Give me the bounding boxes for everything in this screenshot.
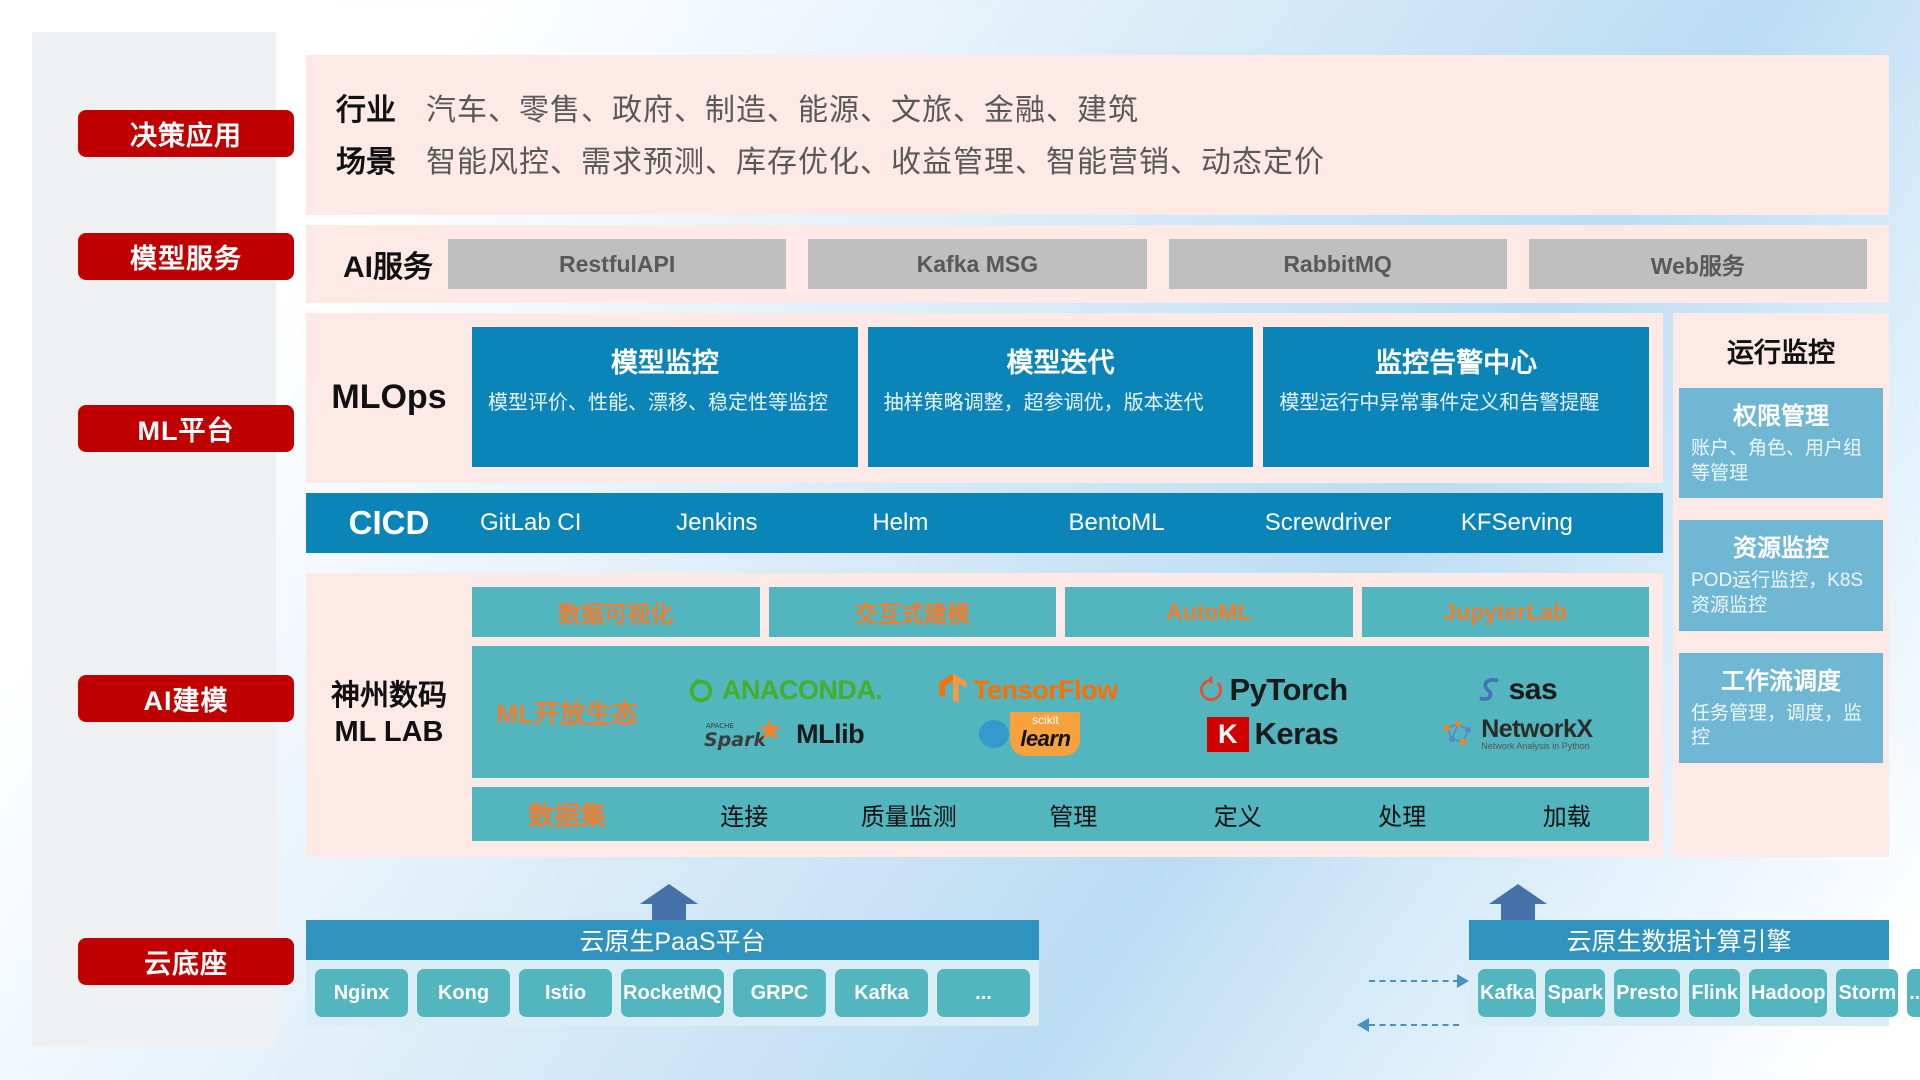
scenario-values: 智能风控、需求预测、库存优化、收益管理、智能营销、动态定价 bbox=[426, 137, 1325, 181]
paas-platform-title: 云原生PaaS平台 bbox=[306, 920, 1039, 960]
runtime-monitoring-title: 运行监控 bbox=[1727, 331, 1835, 370]
cicd-item-screwdriver[interactable]: Screwdriver bbox=[1257, 509, 1453, 537]
networkx-logo: NetworkX Network Analysis in Python bbox=[1441, 717, 1592, 751]
engine-chip-list: Kafka Spark Presto Flink Hadoop Storm ..… bbox=[1469, 960, 1889, 1026]
ml-lab-title-cn: 神州数码 bbox=[306, 678, 472, 714]
engine-chip-spark[interactable]: Spark bbox=[1545, 969, 1605, 1017]
ai-service-item-kafka-msg[interactable]: Kafka MSG bbox=[808, 239, 1146, 289]
cloud-base-section: 云原生PaaS平台 Nginx Kong Istio RocketMQ GRPC… bbox=[306, 884, 1889, 1044]
industry-values: 汽车、零售、政府、制造、能源、文旅、金融、建筑 bbox=[426, 85, 1139, 129]
ml-lab-tool-jupyterlab[interactable]: JupyterLab bbox=[1362, 587, 1650, 637]
cicd-item-bentoml[interactable]: BentoML bbox=[1061, 509, 1257, 537]
engine-chip-kafka[interactable]: Kafka bbox=[1478, 969, 1536, 1017]
keras-logo: K Keras bbox=[1207, 716, 1338, 752]
cicd-item-kfserving[interactable]: KFServing bbox=[1453, 509, 1649, 537]
dashed-link-right bbox=[1369, 980, 1459, 984]
dataset-item-manage[interactable]: 管理 bbox=[991, 797, 1156, 832]
runtime-monitoring-column: 运行监控 权限管理 账户、角色、用户组等管理 资源监控 POD运行监控，K8S资… bbox=[1673, 313, 1889, 857]
ml-lab-title: 神州数码 ML LAB bbox=[306, 678, 472, 751]
anaconda-logo: ANACONDA. bbox=[686, 675, 883, 706]
anaconda-mark-icon bbox=[686, 675, 716, 705]
ml-lab-tool-automl[interactable]: AutoML bbox=[1065, 587, 1353, 637]
data-engine-title: 云原生数据计算引擎 bbox=[1469, 920, 1889, 960]
mlops-band: MLOps 模型监控 模型评价、性能、漂移、稳定性等监控 模型迭代 抽样策略调整… bbox=[306, 313, 1663, 483]
cicd-label: CICD bbox=[306, 504, 472, 542]
engine-chip-storm[interactable]: Storm bbox=[1836, 969, 1898, 1017]
architecture-main: 行业 汽车、零售、政府、制造、能源、文旅、金融、建筑 场景 智能风控、需求预测、… bbox=[306, 55, 1889, 857]
monitor-card-title: 资源监控 bbox=[1691, 528, 1871, 563]
paas-chip-grpc[interactable]: GRPC bbox=[733, 969, 826, 1017]
scikit-label: scikit bbox=[1020, 714, 1070, 726]
mlops-card-title: 模型迭代 bbox=[884, 341, 1238, 380]
sas-mark-icon bbox=[1477, 676, 1503, 704]
mlops-and-monitoring: MLOps 模型监控 模型评价、性能、漂移、稳定性等监控 模型迭代 抽样策略调整… bbox=[306, 313, 1889, 857]
ml-lab-title-en: ML LAB bbox=[306, 714, 472, 750]
dataset-item-connect[interactable]: 连接 bbox=[662, 797, 827, 832]
dashed-link-left bbox=[1369, 1024, 1459, 1028]
pytorch-flame-icon bbox=[1198, 675, 1224, 705]
ai-modeling-band: 神州数码 ML LAB 数据可视化 交互式建模 AutoML JupyterLa… bbox=[306, 573, 1663, 857]
scenario-row: 场景 智能风控、需求预测、库存优化、收益管理、智能营销、动态定价 bbox=[306, 137, 1889, 181]
scenario-label: 场景 bbox=[306, 137, 426, 181]
layer-chip-ai-modeling[interactable]: AI建模 bbox=[78, 675, 294, 722]
industry-label: 行业 bbox=[306, 85, 426, 129]
paas-chip-istio[interactable]: Istio bbox=[519, 969, 612, 1017]
dataset-item-list: 连接 质量监测 管理 定义 处理 加载 bbox=[662, 797, 1649, 832]
layer-chip-model-svc[interactable]: 模型服务 bbox=[78, 233, 294, 280]
ml-lab-tool-interactive[interactable]: 交互式建模 bbox=[769, 587, 1057, 637]
tensorflow-logo: TensorFlow bbox=[939, 674, 1118, 706]
mlops-card-title: 监控告警中心 bbox=[1279, 341, 1633, 380]
dataset-row: 数据集 连接 质量监测 管理 定义 处理 加载 bbox=[472, 787, 1649, 841]
paas-chip-kafka[interactable]: Kafka bbox=[835, 969, 928, 1017]
ai-service-title: AI服务 bbox=[328, 242, 448, 286]
engine-chip-flink[interactable]: Flink bbox=[1689, 969, 1740, 1017]
paas-chip-rocketmq[interactable]: RocketMQ bbox=[621, 969, 724, 1017]
dashed-arrowhead-left-icon bbox=[1357, 1018, 1369, 1032]
monitor-card-title: 工作流调度 bbox=[1691, 661, 1871, 696]
dataset-item-load[interactable]: 加载 bbox=[1485, 797, 1650, 832]
scikit-learn-badge: scikit learn bbox=[1010, 712, 1080, 756]
scikit-blue-blob-icon bbox=[976, 717, 1012, 751]
pytorch-logo: PyTorch bbox=[1198, 672, 1348, 708]
layer-rail: 决策应用 模型服务 ML平台 AI建模 云底座 bbox=[32, 32, 276, 1047]
tensorflow-mark-icon bbox=[939, 674, 967, 706]
ml-ecosystem-label: ML开放生态 bbox=[472, 694, 662, 731]
ai-service-item-restfulapi[interactable]: RestfulAPI bbox=[448, 239, 786, 289]
paas-chip-more[interactable]: ... bbox=[937, 969, 1030, 1017]
keras-logo-text: Keras bbox=[1255, 716, 1339, 752]
mlops-title: MLOps bbox=[306, 378, 472, 417]
ai-service-band: AI服务 RestfulAPI Kafka MSG RabbitMQ Web服务 bbox=[306, 225, 1889, 303]
mlops-card-desc: 抽样策略调整，超参调优，版本迭代 bbox=[884, 390, 1238, 416]
monitor-card-desc: POD运行监控，K8S资源监控 bbox=[1691, 569, 1871, 618]
data-engine-box: 云原生数据计算引擎 Kafka Spark Presto Flink Hadoo… bbox=[1469, 920, 1889, 1026]
paas-chip-nginx[interactable]: Nginx bbox=[315, 969, 408, 1017]
ai-service-list: RestfulAPI Kafka MSG RabbitMQ Web服务 bbox=[448, 239, 1867, 289]
mlops-card-model-iteration[interactable]: 模型迭代 抽样策略调整，超参调优，版本迭代 bbox=[868, 327, 1254, 467]
dataset-item-quality[interactable]: 质量监测 bbox=[827, 797, 992, 832]
svg-text:Spark: Spark bbox=[704, 729, 767, 751]
mlops-card-model-monitor[interactable]: 模型监控 模型评价、性能、漂移、稳定性等监控 bbox=[472, 327, 858, 467]
cicd-item-list: GitLab CI Jenkins Helm BentoML Screwdriv… bbox=[472, 509, 1649, 537]
cicd-item-helm[interactable]: Helm bbox=[864, 509, 1060, 537]
layer-chip-cloud-base[interactable]: 云底座 bbox=[78, 938, 294, 985]
anaconda-logo-text: ANACONDA. bbox=[722, 675, 883, 706]
engine-chip-more[interactable]: ... bbox=[1907, 969, 1920, 1017]
application-band: 行业 汽车、零售、政府、制造、能源、文旅、金融、建筑 场景 智能风控、需求预测、… bbox=[306, 55, 1889, 215]
monitor-card-workflow[interactable]: 工作流调度 任务管理，调度，监控 bbox=[1679, 653, 1883, 763]
scikit-learn-logo: scikit learn bbox=[976, 712, 1080, 756]
mlops-card-list: 模型监控 模型评价、性能、漂移、稳定性等监控 模型迭代 抽样策略调整，超参调优，… bbox=[472, 327, 1649, 467]
spark-mllib-logo: APACHE Spark MLlib bbox=[704, 717, 864, 751]
mlops-card-desc: 模型运行中异常事件定义和告警提醒 bbox=[1279, 390, 1633, 416]
ai-service-item-web[interactable]: Web服务 bbox=[1529, 239, 1867, 289]
ml-lab-tool-list: 数据可视化 交互式建模 AutoML JupyterLab bbox=[472, 587, 1649, 637]
mlops-card-desc: 模型评价、性能、漂移、稳定性等监控 bbox=[488, 390, 842, 416]
mlops-column: MLOps 模型监控 模型评价、性能、漂移、稳定性等监控 模型迭代 抽样策略调整… bbox=[306, 313, 1663, 857]
ml-ecosystem-row: ML开放生态 ANACONDA. bbox=[472, 646, 1649, 778]
mlops-card-alert-center[interactable]: 监控告警中心 模型运行中异常事件定义和告警提醒 bbox=[1263, 327, 1649, 467]
paas-platform-box: 云原生PaaS平台 Nginx Kong Istio RocketMQ GRPC… bbox=[306, 920, 1039, 1026]
networkx-logo-block: NetworkX Network Analysis in Python bbox=[1481, 717, 1592, 751]
dataset-item-define[interactable]: 定义 bbox=[1156, 797, 1321, 832]
ml-ecosystem-logo-grid: ANACONDA. TensorFlow bbox=[662, 668, 1649, 756]
networkx-graph-icon bbox=[1441, 718, 1475, 750]
dataset-label: 数据集 bbox=[472, 796, 662, 833]
engine-chip-presto[interactable]: Presto bbox=[1614, 969, 1680, 1017]
networkx-tagline: Network Analysis in Python bbox=[1481, 742, 1592, 751]
cicd-row: CICD GitLab CI Jenkins Helm BentoML Scre… bbox=[306, 493, 1663, 553]
pytorch-logo-text: PyTorch bbox=[1230, 672, 1348, 708]
ai-service-item-rabbitmq[interactable]: RabbitMQ bbox=[1169, 239, 1507, 289]
monitor-card-resource[interactable]: 资源监控 POD运行监控，K8S资源监控 bbox=[1679, 520, 1883, 630]
ml-lab-stack: 数据可视化 交互式建模 AutoML JupyterLab ML开放生态 bbox=[472, 587, 1649, 841]
layer-chip-decision[interactable]: 决策应用 bbox=[78, 110, 294, 157]
monitor-card-desc: 账户、角色、用户组等管理 bbox=[1691, 437, 1871, 486]
ml-lab-tool-data-viz[interactable]: 数据可视化 bbox=[472, 587, 760, 637]
spark-mllib-logo-text: MLlib bbox=[796, 719, 864, 750]
sas-logo-text: sas bbox=[1509, 673, 1558, 707]
layer-chip-ml-platform[interactable]: ML平台 bbox=[78, 405, 294, 452]
paas-chip-kong[interactable]: Kong bbox=[417, 969, 510, 1017]
tensorflow-logo-text: TensorFlow bbox=[973, 675, 1118, 706]
monitor-card-permission[interactable]: 权限管理 账户、角色、用户组等管理 bbox=[1679, 388, 1883, 498]
sas-logo: sas bbox=[1477, 673, 1558, 707]
monitor-card-title: 权限管理 bbox=[1691, 396, 1871, 431]
paas-chip-list: Nginx Kong Istio RocketMQ GRPC Kafka ... bbox=[306, 960, 1039, 1026]
mlops-card-title: 模型监控 bbox=[488, 341, 842, 380]
cicd-item-gitlab-ci[interactable]: GitLab CI bbox=[472, 509, 668, 537]
engine-chip-hadoop[interactable]: Hadoop bbox=[1749, 969, 1827, 1017]
scikit-learn-logo-text: learn bbox=[1020, 726, 1070, 751]
dashed-arrowhead-right-icon bbox=[1457, 974, 1469, 988]
dataset-item-process[interactable]: 处理 bbox=[1320, 797, 1485, 832]
industry-row: 行业 汽车、零售、政府、制造、能源、文旅、金融、建筑 bbox=[306, 85, 1889, 129]
keras-mark-icon: K bbox=[1207, 717, 1249, 752]
cicd-item-jenkins[interactable]: Jenkins bbox=[668, 509, 864, 537]
apache-spark-mark-icon: APACHE Spark bbox=[704, 717, 790, 751]
monitor-card-desc: 任务管理，调度，监控 bbox=[1691, 702, 1871, 751]
networkx-logo-text: NetworkX bbox=[1481, 715, 1592, 743]
